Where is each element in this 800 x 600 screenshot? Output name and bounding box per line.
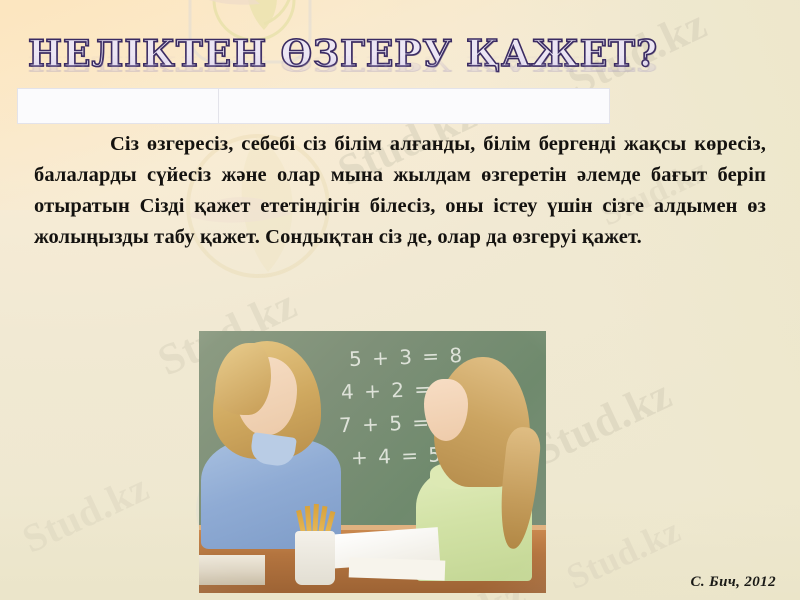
content-placeholder-left[interactable] xyxy=(17,88,219,124)
content-placeholder-right[interactable] xyxy=(218,88,610,124)
slide-canvas: Stud.kz Stud.kz Stud.kz Stud.kz Stud.kz … xyxy=(0,0,800,600)
author-signature: С. Бич, 2012 xyxy=(690,574,776,591)
photo-vignette xyxy=(199,331,546,593)
teacher-and-student-photo: 5 + 3 = 8 4 + 2 = 6 7 + 5 = 12 + 4 = 5 xyxy=(199,331,546,593)
photo-scene: 5 + 3 = 8 4 + 2 = 6 7 + 5 = 12 + 4 = 5 xyxy=(199,331,546,593)
body-paragraph: Сіз өзгересіз, себебі сіз білім алғанды,… xyxy=(34,129,766,253)
placeholder-row xyxy=(17,88,610,124)
